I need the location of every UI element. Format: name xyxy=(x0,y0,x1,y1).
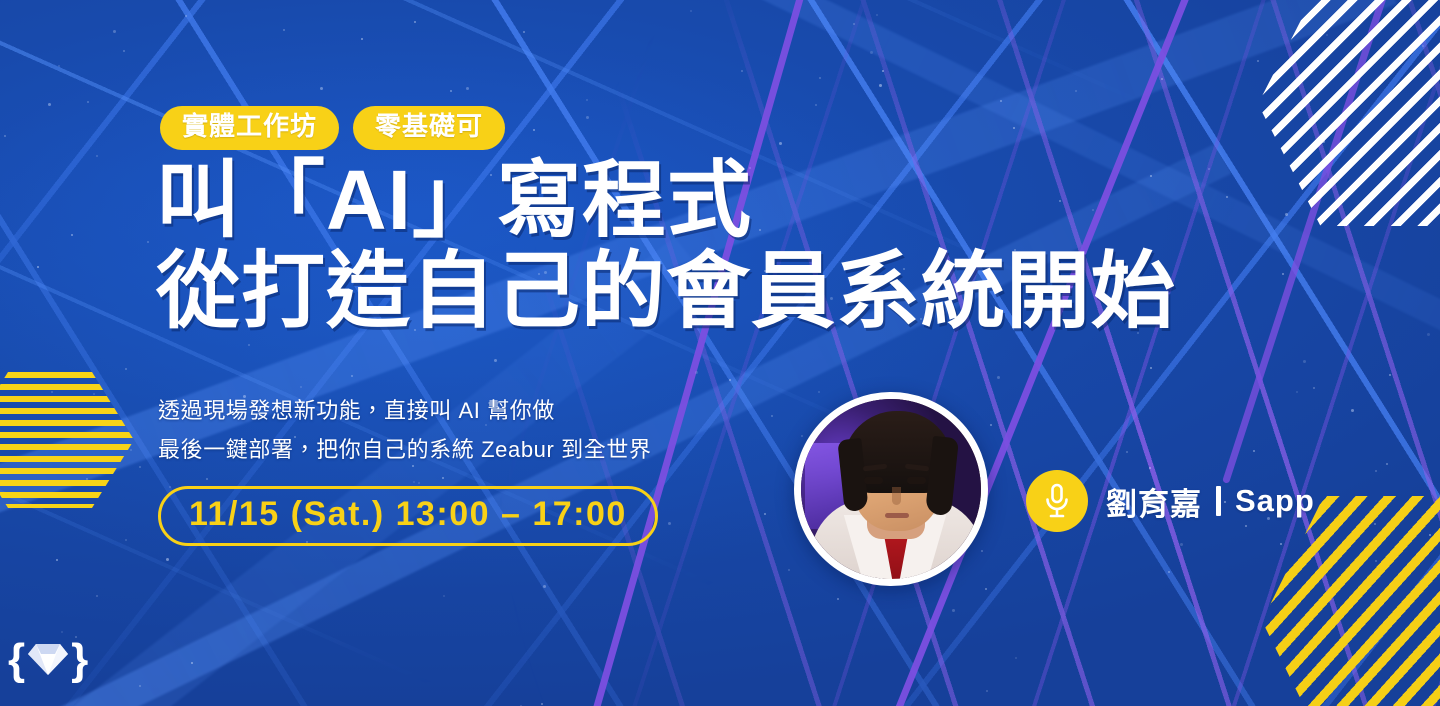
speaker-portrait-image xyxy=(801,399,981,579)
right-brace: } xyxy=(71,638,88,682)
speaker-org: Sapp xyxy=(1235,483,1315,519)
left-brace: { xyxy=(8,638,25,682)
badge-skill-level: 零基礎可 xyxy=(353,106,505,150)
speaker-name: 劉育嘉 xyxy=(1106,479,1202,524)
name-separator xyxy=(1216,486,1221,516)
brand-logo: { } xyxy=(8,638,88,682)
event-datetime: 11/15 (Sat.) 13:00 – 17:00 xyxy=(158,486,658,546)
badge-workshop-type: 實體工作坊 xyxy=(160,106,339,150)
page-title: 叫「AI」寫程式 從打造自己的會員系統開始 xyxy=(156,158,1176,335)
subtitle-line-2: 最後一鍵部署，把你自己的系統 Zeabur 到全世界 xyxy=(158,431,652,470)
subtitle: 透過現場發想新功能，直接叫 AI 幫你做 最後一鍵部署，把你自己的系統 Zeab… xyxy=(158,392,652,469)
event-banner: 實體工作坊 零基礎可 叫「AI」寫程式 從打造自己的會員系統開始 透過現場發想新… xyxy=(0,0,1440,706)
title-line-1: 叫「AI」寫程式 xyxy=(156,158,1176,244)
subtitle-line-1: 透過現場發想新功能，直接叫 AI 幫你做 xyxy=(158,392,652,431)
title-line-2: 從打造自己的會員系統開始 xyxy=(156,248,1176,335)
speaker-info: 劉育嘉 Sapp xyxy=(1026,470,1315,532)
avatar xyxy=(794,392,988,586)
microphone-icon xyxy=(1026,470,1088,532)
diamond-icon xyxy=(28,639,68,682)
badge-group: 實體工作坊 零基礎可 xyxy=(160,106,505,150)
speaker-name-block: 劉育嘉 Sapp xyxy=(1106,479,1315,524)
